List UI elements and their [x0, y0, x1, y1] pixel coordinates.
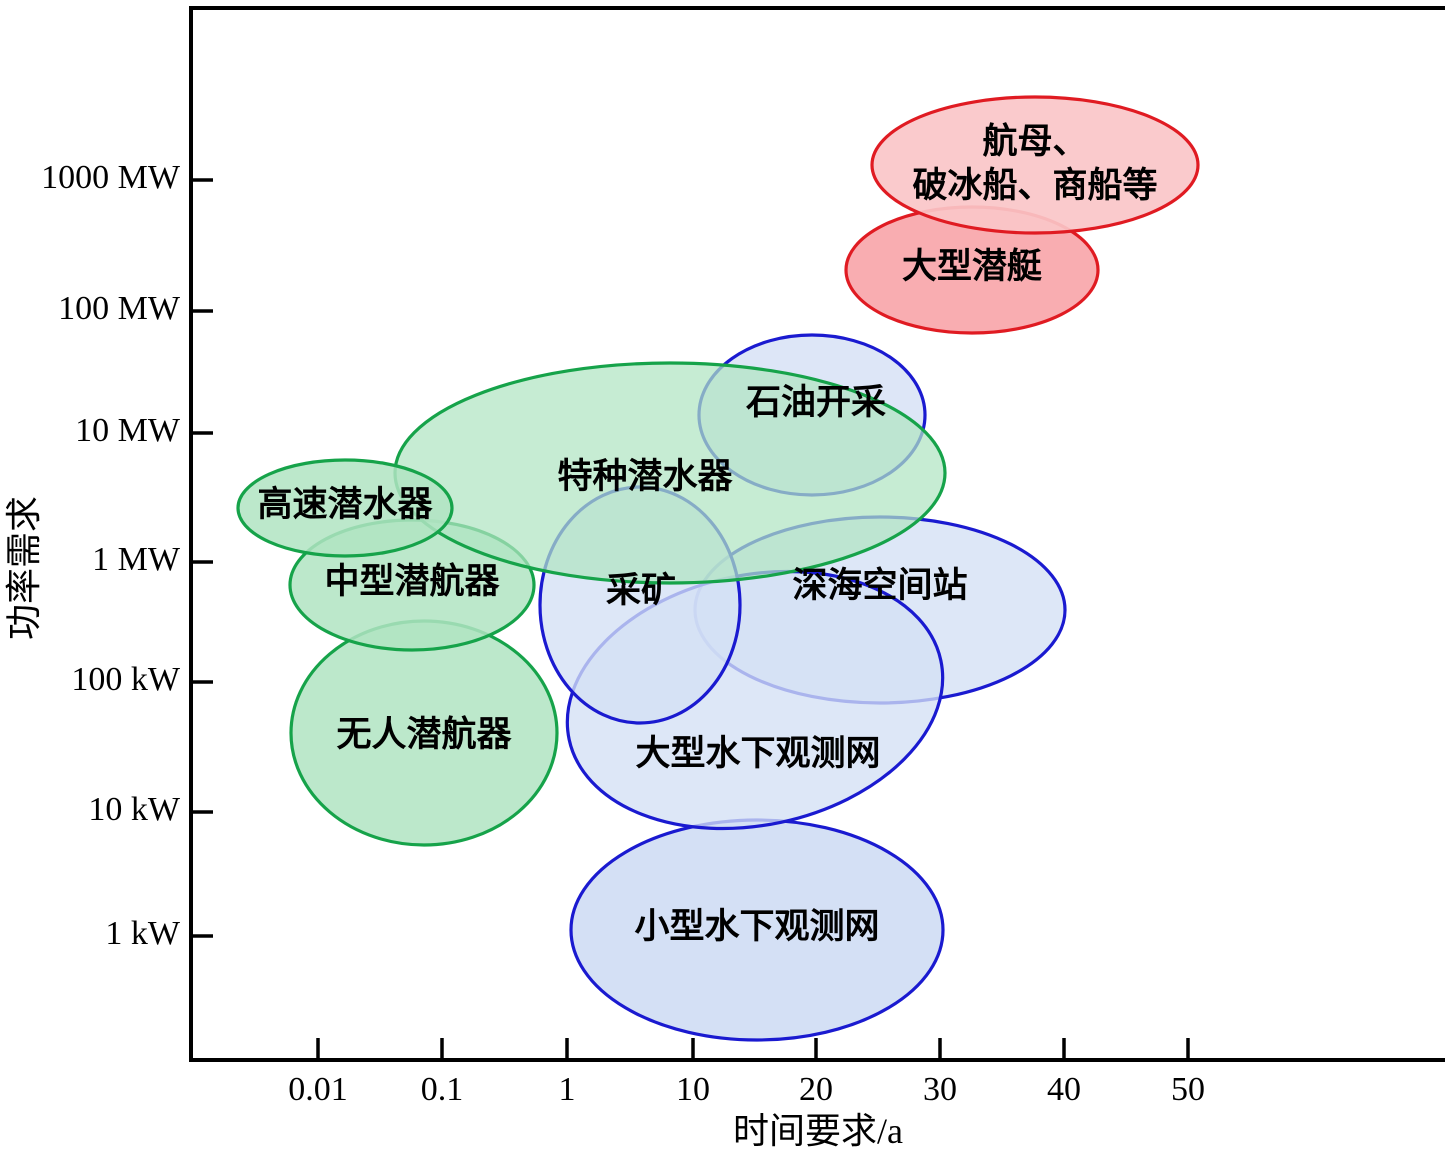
bubble-label-carrier-line1: 航母、 — [982, 121, 1087, 161]
bubble-carrier-icebreaker-merchant[interactable] — [872, 97, 1198, 233]
chart-container: 1000 MW 100 MW 10 MW 1 MW 100 kW 10 kW 1… — [0, 0, 1454, 1158]
y-tick-label-1kw: 1 kW — [105, 915, 181, 952]
y-tick-label-1000mw: 1000 MW — [41, 159, 181, 196]
y-tick-label-10mw: 10 MW — [75, 412, 181, 449]
x-tick-label-0p01: 0.01 — [288, 1071, 348, 1108]
bubble-label-large-underwater-network: 大型水下观测网 — [635, 734, 880, 773]
y-tick-label-1mw: 1 MW — [92, 541, 181, 578]
y-axis-ticks — [191, 180, 213, 936]
bubble-label-deep-sea-station: 深海空间站 — [792, 566, 967, 605]
x-tick-label-0p1: 0.1 — [421, 1071, 464, 1108]
bubble-label-small-underwater-network: 小型水下观测网 — [634, 907, 879, 946]
bubble-label-large-submarine: 大型潜艇 — [902, 247, 1042, 286]
x-tick-label-20: 20 — [799, 1071, 833, 1108]
bubble-label-oil-extraction: 石油开采 — [746, 383, 886, 422]
y-tick-label-10kw: 10 kW — [88, 791, 181, 828]
x-tick-label-30: 30 — [923, 1071, 957, 1108]
bubble-label-high-speed-submersible: 高速潜水器 — [257, 485, 433, 524]
x-tick-label-50: 50 — [1171, 1071, 1205, 1108]
x-tick-label-40: 40 — [1047, 1071, 1081, 1108]
x-tick-label-1: 1 — [559, 1071, 576, 1108]
y-tick-label-100kw: 100 kW — [71, 661, 181, 698]
x-axis-tick-labels: 0.01 0.1 1 10 20 30 40 50 — [288, 1071, 1205, 1108]
power-vs-time-scatter-chart: 1000 MW 100 MW 10 MW 1 MW 100 kW 10 kW 1… — [0, 0, 1454, 1158]
x-axis-title: 时间要求/a — [733, 1111, 903, 1151]
bubble-label-special-submersible: 特种潜水器 — [557, 457, 733, 496]
bubble-label-medium-submersible: 中型潜航器 — [324, 561, 500, 601]
bubble-label-unmanned-submersible: 无人潜航器 — [336, 714, 512, 754]
y-tick-label-100mw: 100 MW — [58, 290, 181, 327]
bubble-label-carrier-line2: 破冰船、商船等 — [912, 166, 1157, 205]
y-axis-title: 功率需求 — [4, 496, 44, 640]
y-axis-tick-labels: 1000 MW 100 MW 10 MW 1 MW 100 kW 10 kW 1… — [41, 159, 181, 952]
bubble-label-mining: 采矿 — [606, 571, 676, 610]
x-tick-label-10: 10 — [676, 1071, 710, 1108]
